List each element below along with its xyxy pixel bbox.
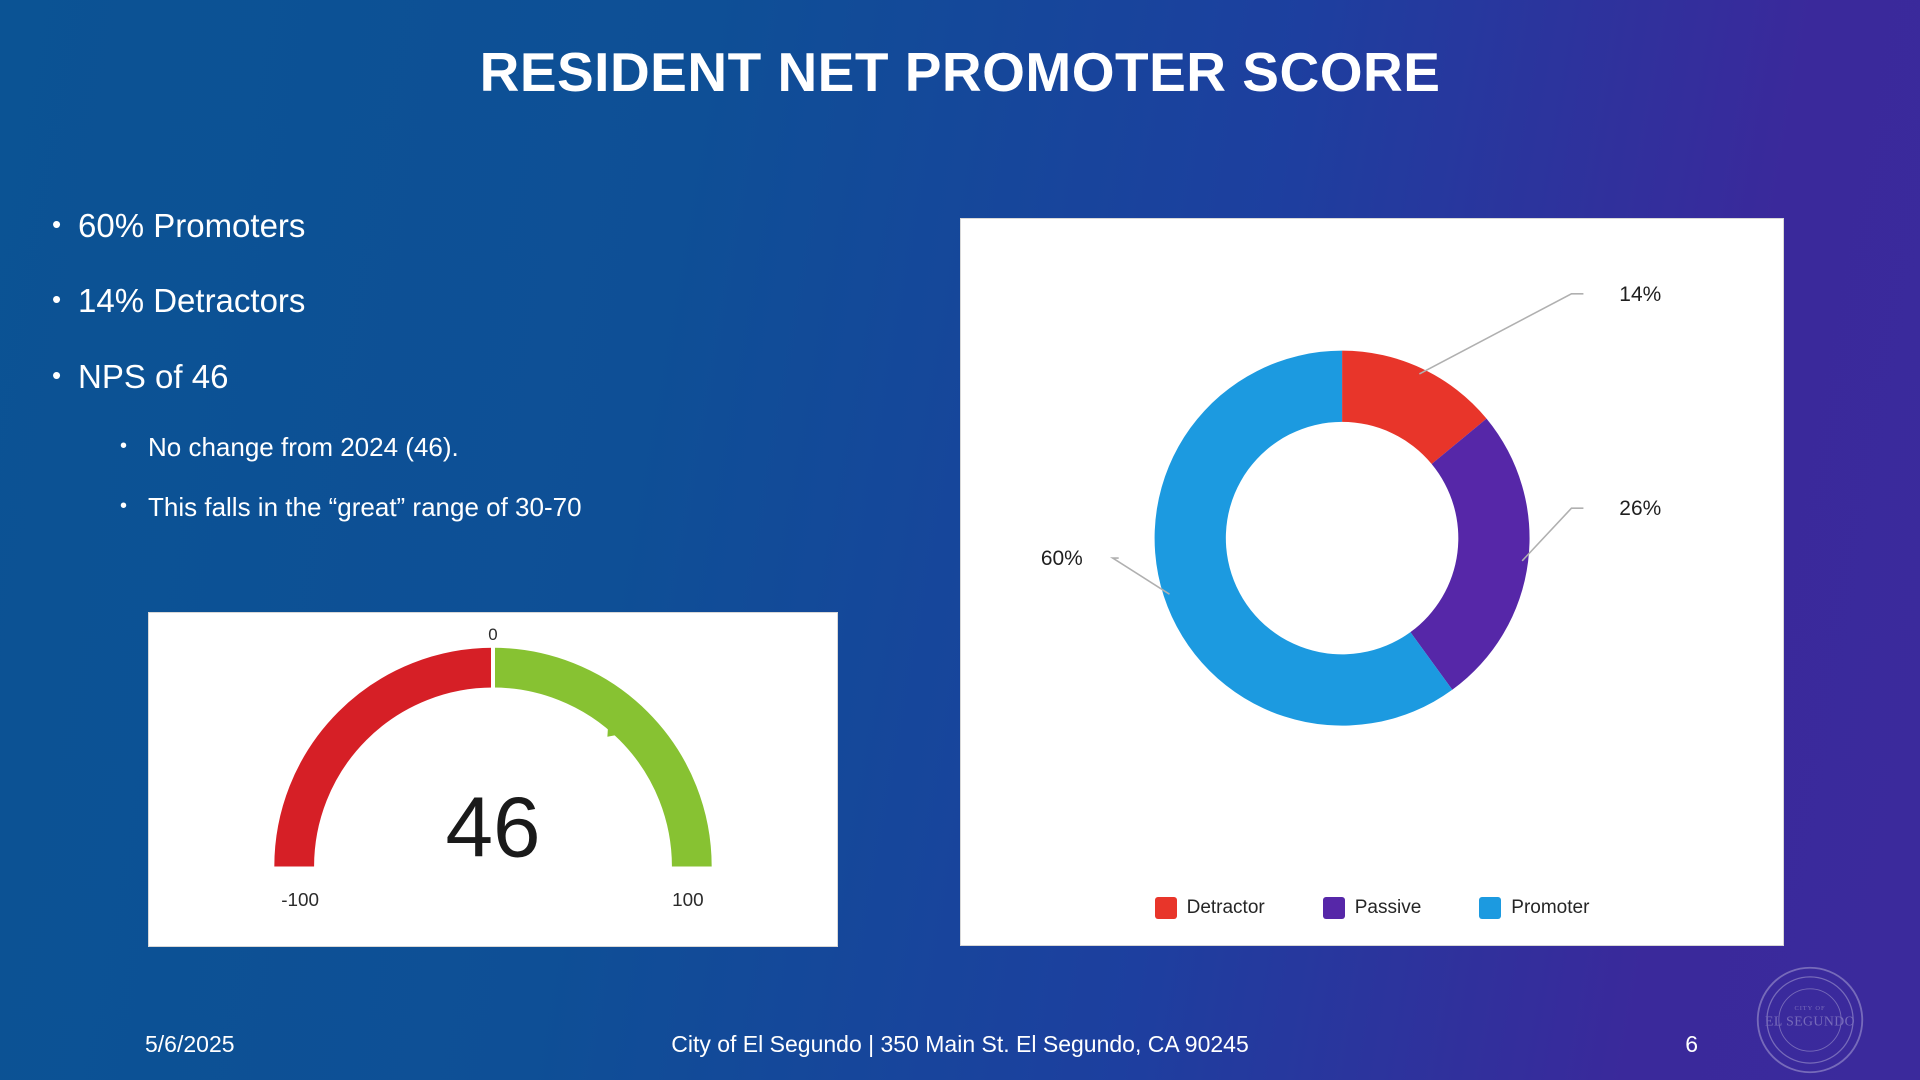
bullet-label: NPS of 46 xyxy=(78,356,792,397)
donut-value-label-detractor: 14% xyxy=(1619,283,1661,306)
legend-label-passive: Passive xyxy=(1355,897,1422,919)
bullet-label: 14% Detractors xyxy=(78,280,792,321)
list-item: • NPS of 46 xyxy=(52,356,792,397)
gauge-min-label: -100 xyxy=(281,890,319,911)
sub-bullet-label: No change from 2024 (46). xyxy=(148,431,459,464)
bullet-icon: • xyxy=(120,431,148,462)
legend-item-promoter[interactable]: Promoter xyxy=(1479,897,1589,919)
bullet-list: • 60% Promoters • 14% Detractors • NPS o… xyxy=(52,205,792,552)
legend-label-detractor: Detractor xyxy=(1187,897,1265,919)
page-title: RESIDENT NET PROMOTER SCORE xyxy=(0,42,1920,103)
bullet-icon: • xyxy=(120,491,148,522)
legend-swatch-promoter xyxy=(1479,897,1501,919)
legend-item-detractor[interactable]: Detractor xyxy=(1155,897,1265,919)
donut-chart: 14%26%60% xyxy=(961,219,1783,945)
page-number: 6 xyxy=(1685,1031,1698,1058)
bullet-icon: • xyxy=(52,356,78,395)
gauge-chart: 0 -100 100 46 xyxy=(149,613,837,946)
legend-swatch-passive xyxy=(1323,897,1345,919)
list-item: • This falls in the “great” range of 30-… xyxy=(120,491,792,524)
donut-value-label-passive: 26% xyxy=(1619,497,1661,520)
donut-leader-line xyxy=(1419,294,1583,374)
list-item: • 60% Promoters xyxy=(52,205,792,246)
donut-leader-line xyxy=(1522,508,1583,561)
bullet-label: 60% Promoters xyxy=(78,205,792,246)
gauge-max-label: 100 xyxy=(672,890,704,911)
sub-bullet-label: This falls in the “great” range of 30-70 xyxy=(148,491,582,524)
bullet-icon: • xyxy=(52,205,78,244)
donut-chart-card: 14%26%60% Detractor Passive Promoter xyxy=(960,218,1784,946)
sub-bullet-list: • No change from 2024 (46). • This falls… xyxy=(120,431,792,524)
legend-label-promoter: Promoter xyxy=(1511,897,1589,919)
seal-main-text: EL SEGUNDO xyxy=(1765,1014,1855,1029)
donut-value-label-promoter: 60% xyxy=(1041,547,1083,570)
list-item: • 14% Detractors xyxy=(52,280,792,321)
gauge-mid-label: 0 xyxy=(488,625,497,644)
list-item: • No change from 2024 (46). xyxy=(120,431,792,464)
seal-top-text: CITY OF xyxy=(1795,1005,1826,1012)
legend-item-passive[interactable]: Passive xyxy=(1323,897,1422,919)
legend-swatch-detractor xyxy=(1155,897,1177,919)
bullet-icon: • xyxy=(52,280,78,319)
el-segundo-seal-logo: CITY OF EL SEGUNDO xyxy=(1755,965,1865,1075)
chart-legend: Detractor Passive Promoter xyxy=(961,897,1783,919)
gauge-chart-card: 0 -100 100 46 xyxy=(148,612,838,947)
gauge-value-label: 46 xyxy=(445,781,540,876)
footer-address: City of El Segundo | 350 Main St. El Seg… xyxy=(0,1031,1920,1058)
